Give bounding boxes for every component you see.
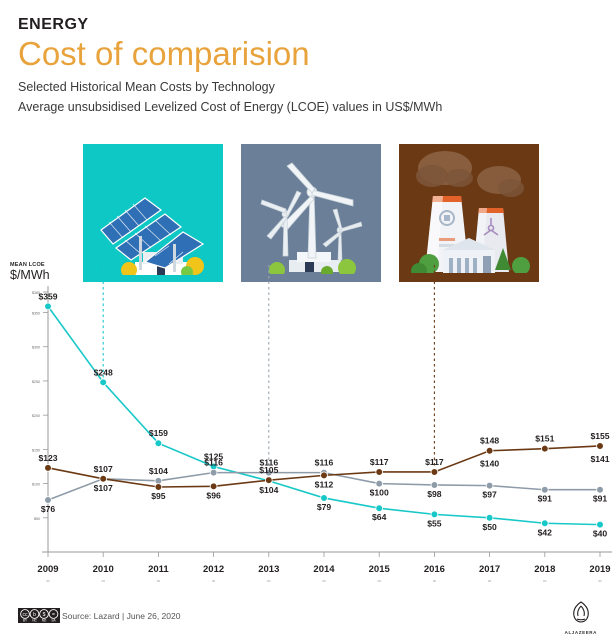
data-label: $359 <box>38 291 57 301</box>
data-point <box>321 472 328 479</box>
x-tick-sublabel: ••• <box>212 579 215 583</box>
svg-text:b: b <box>33 612 36 618</box>
data-point <box>265 477 272 484</box>
source-credit: Source: Lazard | June 26, 2020 <box>62 611 180 621</box>
data-label: $91 <box>538 494 553 504</box>
x-tick-label: 2018 <box>534 564 555 575</box>
x-tick-sublabel: ••• <box>488 579 491 583</box>
data-label: $105 <box>259 465 278 475</box>
x-tick-sublabel: ••• <box>102 579 105 583</box>
data-point <box>541 486 548 493</box>
chart-area: MEAN LCOE $/MWh $50$100$150$200$250$300$… <box>0 262 615 592</box>
subtitle-line-2: Average unsubsidised Levelized Cost of E… <box>18 100 615 115</box>
x-tick-label: 2017 <box>479 564 500 575</box>
data-label: $104 <box>149 466 168 476</box>
data-point <box>210 483 217 490</box>
y-tick-label: $250 <box>32 380 40 384</box>
data-point <box>541 520 548 527</box>
data-label: $64 <box>372 512 387 522</box>
data-point <box>431 469 438 476</box>
data-label: $50 <box>482 522 497 532</box>
data-label: $112 <box>315 479 334 489</box>
svg-text:=: = <box>52 612 55 618</box>
x-tick-label: 2014 <box>313 564 335 575</box>
chart-svg: $50$100$150$200$250$300$350$3802009•••20… <box>0 262 615 592</box>
data-label: $96 <box>206 490 221 500</box>
aljazeera-wordmark: ALJAZEERA <box>565 630 597 635</box>
y-tick-label: $100 <box>32 483 40 487</box>
data-point <box>210 469 217 476</box>
data-point <box>155 440 162 447</box>
data-point <box>155 484 162 491</box>
y-tick-label: $300 <box>32 346 40 350</box>
data-label: $42 <box>538 527 553 537</box>
data-point <box>486 482 493 489</box>
data-label: $116 <box>315 458 334 468</box>
line-plot: $50$100$150$200$250$300$350$3802009•••20… <box>0 262 615 592</box>
data-label: $98 <box>427 489 442 499</box>
page-header: ENERGY Cost of comparision Selected Hist… <box>0 0 615 115</box>
data-point <box>376 480 383 487</box>
data-point <box>376 469 383 476</box>
data-point <box>431 511 438 518</box>
svg-text:ND: ND <box>42 619 47 623</box>
x-tick-sublabel: ••• <box>543 579 546 583</box>
data-label: $151 <box>535 434 554 444</box>
data-point <box>45 464 52 471</box>
data-point <box>376 505 383 512</box>
page-footer: ccb $= BYNC NDSA Source: Lazard | June 2… <box>0 596 615 640</box>
data-label: $117 <box>425 457 444 467</box>
data-label: $159 <box>149 428 168 438</box>
data-label-secondary: $140 <box>480 459 499 469</box>
x-tick-sublabel: ••• <box>322 579 325 583</box>
x-tick-label: 2015 <box>369 564 391 575</box>
data-label: $116 <box>204 458 223 468</box>
series-line-solar-pv <box>48 306 600 524</box>
aljazeera-logo: ALJAZEERA <box>565 600 597 635</box>
x-tick-label: 2009 <box>37 564 58 575</box>
x-tick-label: 2012 <box>203 564 224 575</box>
data-label: $79 <box>317 502 332 512</box>
y-tick-label: $350 <box>32 312 40 316</box>
page-title: Cost of comparision <box>18 35 615 73</box>
svg-text:NC: NC <box>32 619 37 623</box>
kicker-label: ENERGY <box>18 16 615 34</box>
data-label: $76 <box>41 504 56 514</box>
y-tick-label: $150 <box>32 448 40 452</box>
data-point <box>541 445 548 452</box>
data-label: $123 <box>38 453 57 463</box>
data-point <box>597 486 604 493</box>
x-tick-sublabel: ••• <box>433 579 436 583</box>
subtitle-line-1: Selected Historical Mean Costs by Techno… <box>18 80 615 95</box>
data-point <box>597 443 604 450</box>
data-point <box>100 379 107 386</box>
data-label: $91 <box>593 494 608 504</box>
data-point <box>100 475 107 482</box>
data-label: $107 <box>94 464 113 474</box>
x-tick-label: 2011 <box>148 564 169 575</box>
data-point <box>321 495 328 502</box>
x-tick-sublabel: ••• <box>46 579 49 583</box>
data-label: $107 <box>94 483 113 493</box>
x-tick-sublabel: ••• <box>157 579 160 583</box>
data-point <box>486 447 493 454</box>
data-label: $148 <box>480 436 499 446</box>
x-tick-sublabel: ••• <box>267 579 270 583</box>
data-label: $248 <box>94 367 113 377</box>
data-label: $95 <box>151 491 166 501</box>
x-tick-sublabel: ••• <box>598 579 601 583</box>
data-label: $97 <box>482 490 497 500</box>
creative-commons-badge: ccb $= BYNC NDSA <box>18 608 60 628</box>
data-label: $117 <box>370 457 389 467</box>
data-label: $104 <box>259 485 278 495</box>
x-tick-label: 2010 <box>93 564 114 575</box>
data-point <box>45 303 52 310</box>
data-label: $40 <box>593 529 608 539</box>
svg-text:$: $ <box>43 612 46 618</box>
data-point <box>486 514 493 521</box>
data-point <box>597 521 604 528</box>
x-tick-label: 2013 <box>258 564 279 575</box>
data-point <box>45 497 52 504</box>
y-tick-label: $50 <box>34 517 40 521</box>
data-label: $155 <box>590 431 609 441</box>
svg-text:cc: cc <box>23 612 29 618</box>
data-label-secondary: $141 <box>590 454 609 464</box>
x-tick-sublabel: ••• <box>378 579 381 583</box>
x-tick-label: 2016 <box>424 564 445 575</box>
data-label: $100 <box>370 488 389 498</box>
y-tick-label: $200 <box>32 414 40 418</box>
x-tick-label: 2019 <box>589 564 610 575</box>
data-point <box>431 482 438 489</box>
data-label: $55 <box>427 518 442 528</box>
